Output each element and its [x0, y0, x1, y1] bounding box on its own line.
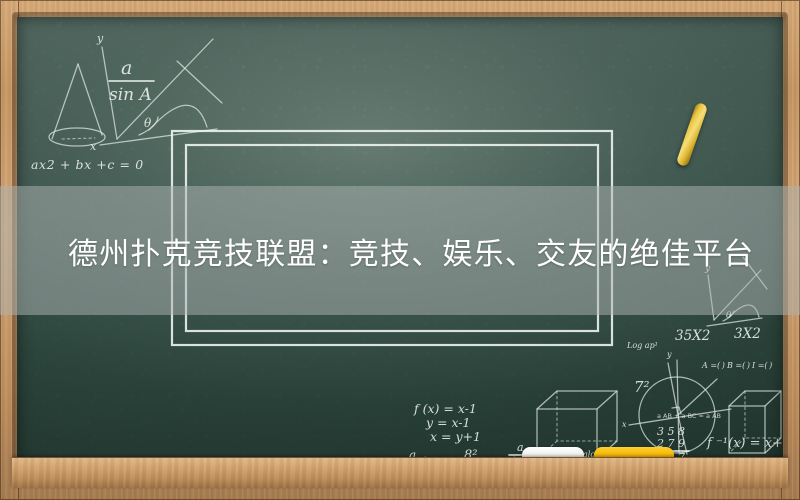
caption-band: 德州扑克竞技联盟：竞技、娱乐、交友的绝佳平台 [0, 186, 800, 315]
chalkboard-scene: .ck{fill:none;stroke:#e3ece6;stroke-opac… [0, 0, 800, 500]
chalk-tray [12, 457, 788, 488]
page-title: 德州扑克竞技联盟：竞技、娱乐、交友的绝佳平台 [0, 229, 754, 273]
